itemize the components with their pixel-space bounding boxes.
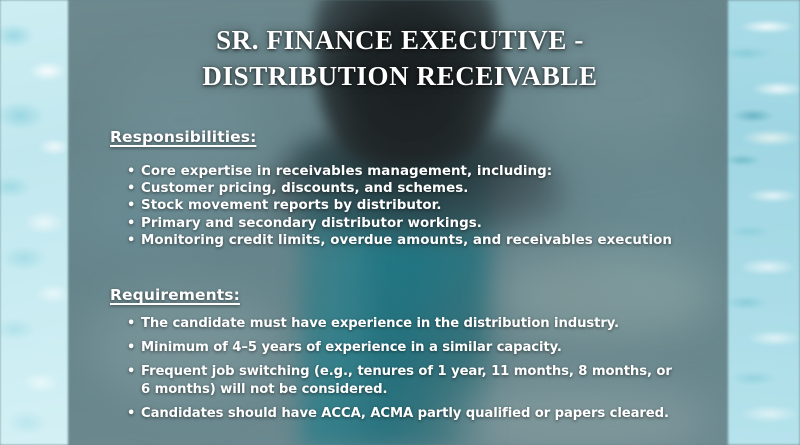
page-title: SR. FINANCE EXECUTIVE - DISTRIBUTION REC… — [90, 22, 710, 94]
list-item: Customer pricing, discounts, and schemes… — [125, 180, 685, 197]
list-item: The candidate must have experience in th… — [125, 315, 685, 333]
list-item: Primary and secondary distributor workin… — [125, 215, 685, 232]
list-item: Stock movement reports by distributor. — [125, 197, 685, 214]
list-item: Core expertise in receivables management… — [125, 163, 685, 180]
list-item: Frequent job switching (e.g., tenures of… — [125, 363, 685, 399]
title-line-1: SR. FINANCE EXECUTIVE - — [90, 22, 710, 58]
requirements-heading: Requirements: — [110, 286, 240, 304]
list-item: Candidates should have ACCA, ACMA partly… — [125, 405, 685, 423]
poster-content: SR. FINANCE EXECUTIVE - DISTRIBUTION REC… — [0, 0, 800, 445]
responsibilities-heading: Responsibilities: — [110, 128, 256, 146]
responsibilities-list: Core expertise in receivables management… — [125, 163, 685, 249]
requirements-list: The candidate must have experience in th… — [125, 315, 685, 429]
title-line-2: DISTRIBUTION RECEIVABLE — [90, 58, 710, 94]
job-posting-poster: SR. FINANCE EXECUTIVE - DISTRIBUTION REC… — [0, 0, 800, 445]
list-item: Monitoring credit limits, overdue amount… — [125, 232, 685, 249]
list-item: Minimum of 4–5 years of experience in a … — [125, 339, 685, 357]
